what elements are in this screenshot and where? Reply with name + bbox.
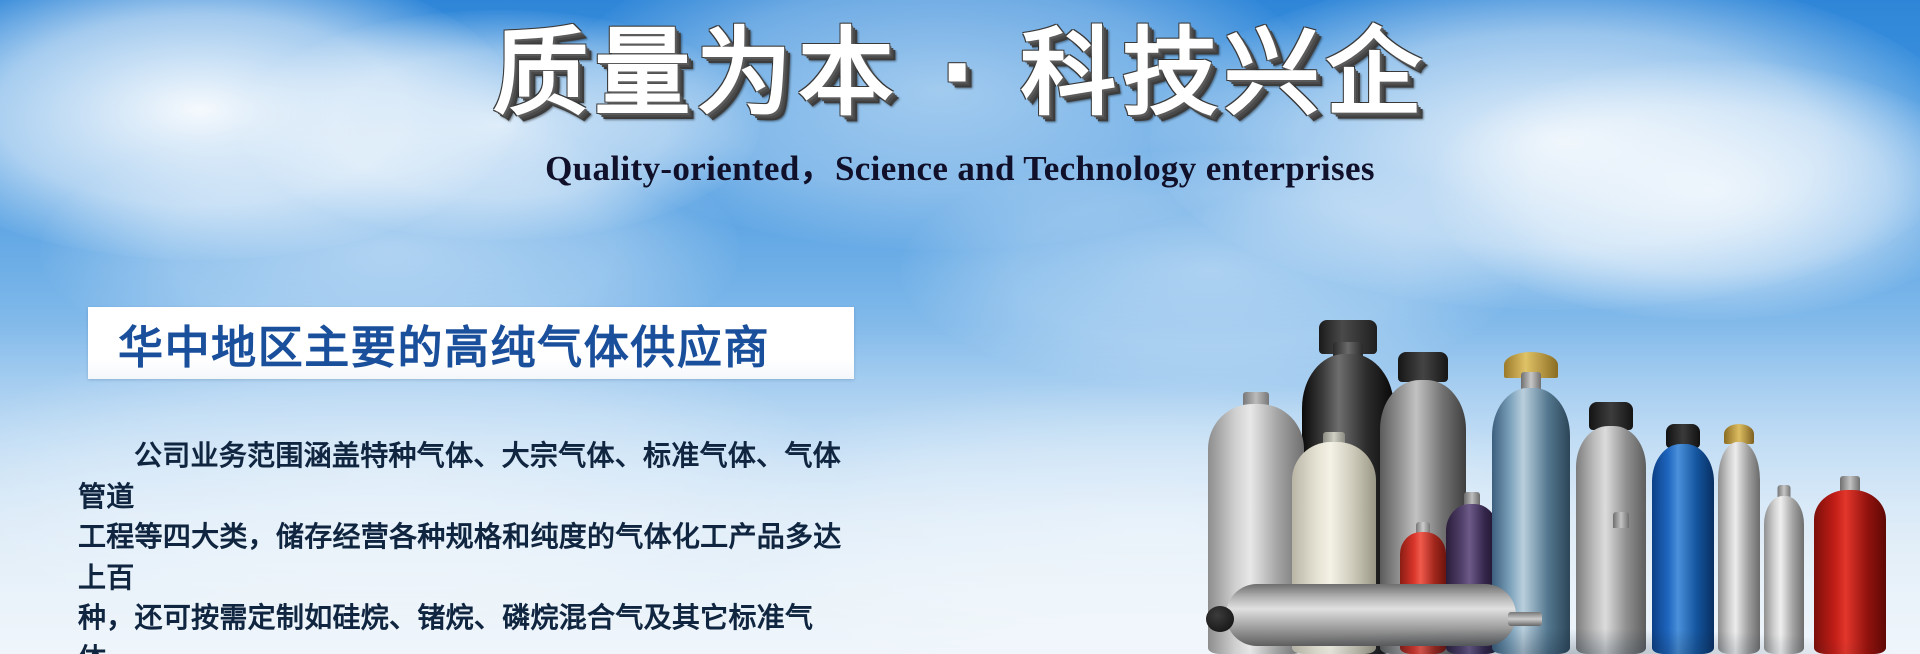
hero-banner: 质量为本 · 科技兴企 Quality-oriented，Science and…: [0, 0, 1920, 654]
cylinder-horizontal-valve: [1508, 612, 1542, 626]
banner-description: 公司业务范围涵盖特种气体、大宗气体、标准气体、气体管道 工程等四大类，储存经营各…: [78, 436, 868, 654]
gas-cylinders-photo: [1220, 234, 1920, 654]
banner-headline: 质量为本 · 科技兴企: [0, 22, 1920, 126]
description-line-3: 种，还可按需定制如硅烷、锗烷、磷烷混合气及其它标准气体。: [78, 598, 868, 654]
cylinder-red: [1814, 469, 1886, 654]
cylinder-blue: [1652, 424, 1714, 654]
slogan-box: 华中地区主要的高纯气体供应商: [88, 307, 854, 379]
slogan-text: 华中地区主要的高纯气体供应商: [88, 311, 770, 376]
description-line-2: 工程等四大类，储存经营各种规格和纯度的气体化工产品多达上百: [78, 517, 868, 598]
cylinder-aluminium-slim-1: [1718, 424, 1760, 654]
description-line-1-text: 公司业务范围涵盖特种气体、大宗气体、标准气体、气体管道: [78, 439, 841, 513]
photo-ground-shadow: [1230, 628, 1900, 654]
description-line-1: 公司业务范围涵盖特种气体、大宗气体、标准气体、气体管道: [78, 436, 868, 517]
banner-subheadline: Quality-oriented，Science and Technology …: [0, 140, 1920, 191]
